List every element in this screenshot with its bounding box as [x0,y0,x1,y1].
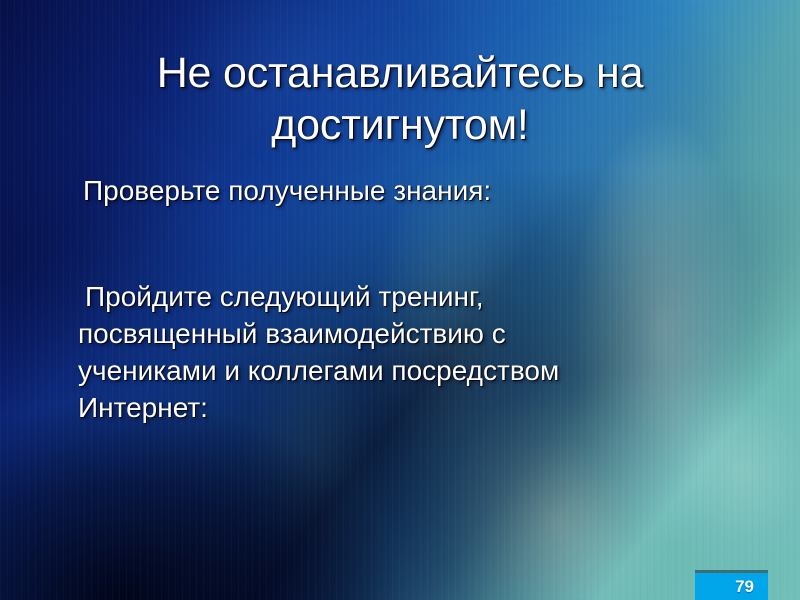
paragraph-line-2: посвященный взаимодействию с [78,315,718,352]
paragraph-line-3: учениками и коллегами посредством [78,352,718,389]
slide-canvas: Не останавливайтесь на достигнутом! Пров… [0,0,800,600]
slide-body: Проверьте полученные знания: Пройдите сл… [78,172,718,426]
instruction-paragraph: Пройдите следующий тренинг, посвященный … [78,278,718,426]
slide-title: Не останавливайтесь на достигнутом! [60,47,740,151]
slide-content: Не останавливайтесь на достигнутом! Пров… [0,0,800,600]
page-number-label: 79 [735,578,754,595]
page-number-badge: 79 [695,573,768,600]
paragraph-line-1: Пройдите следующий тренинг, [78,278,718,315]
lead-text: Проверьте полученные знания: [78,172,718,209]
paragraph-line-4: Интернет: [78,389,718,426]
